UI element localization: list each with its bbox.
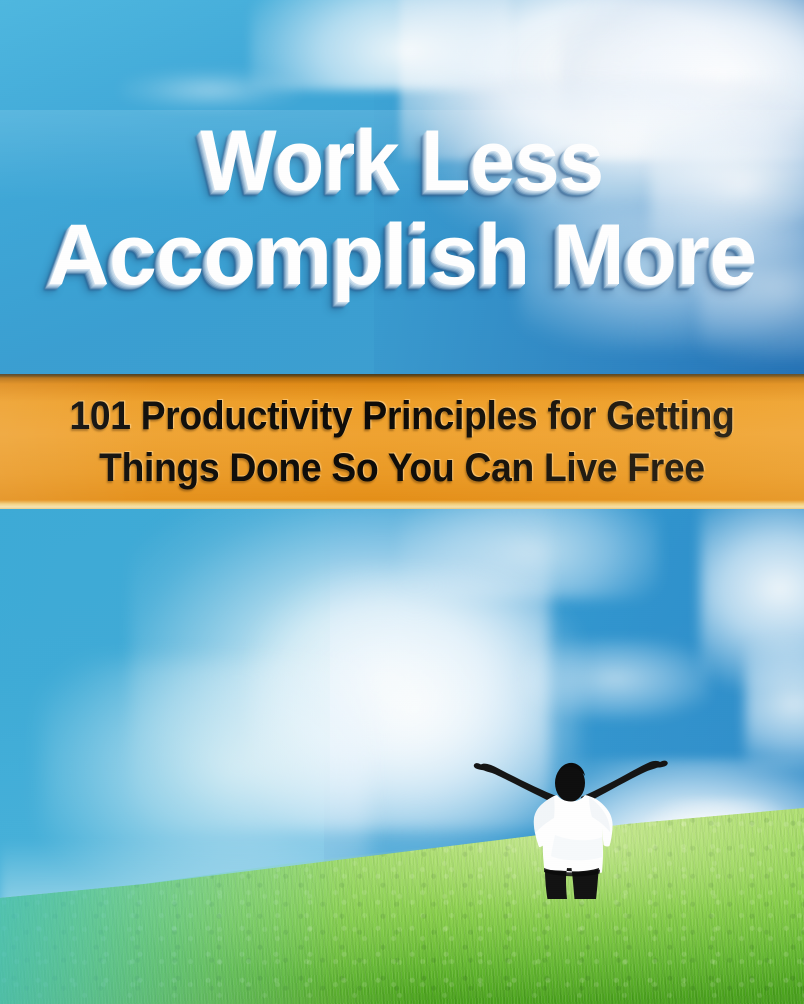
title-line-1: Work Less (24, 118, 780, 204)
scene-cloud-mid-small (520, 639, 710, 719)
subtitle-line-2: Things Done So You Can Live Free (28, 448, 776, 488)
subtitle-banner: 101 Productivity Principles for Getting … (0, 374, 804, 509)
scene-cloud-right-mid (745, 639, 804, 769)
scene-left-cyan-wash (0, 509, 330, 1004)
person-left-arm (480, 764, 559, 805)
book-cover: Work Less Accomplish More 101 Productivi… (0, 0, 804, 1004)
person-arms-raised (455, 749, 685, 899)
title-line-2: Accomplish More (0, 212, 804, 298)
subtitle-line-1: 101 Productivity Principles for Getting (28, 396, 776, 436)
bottom-scene-photo (0, 509, 804, 1004)
cover-title-block: Work Less Accomplish More (0, 0, 804, 375)
